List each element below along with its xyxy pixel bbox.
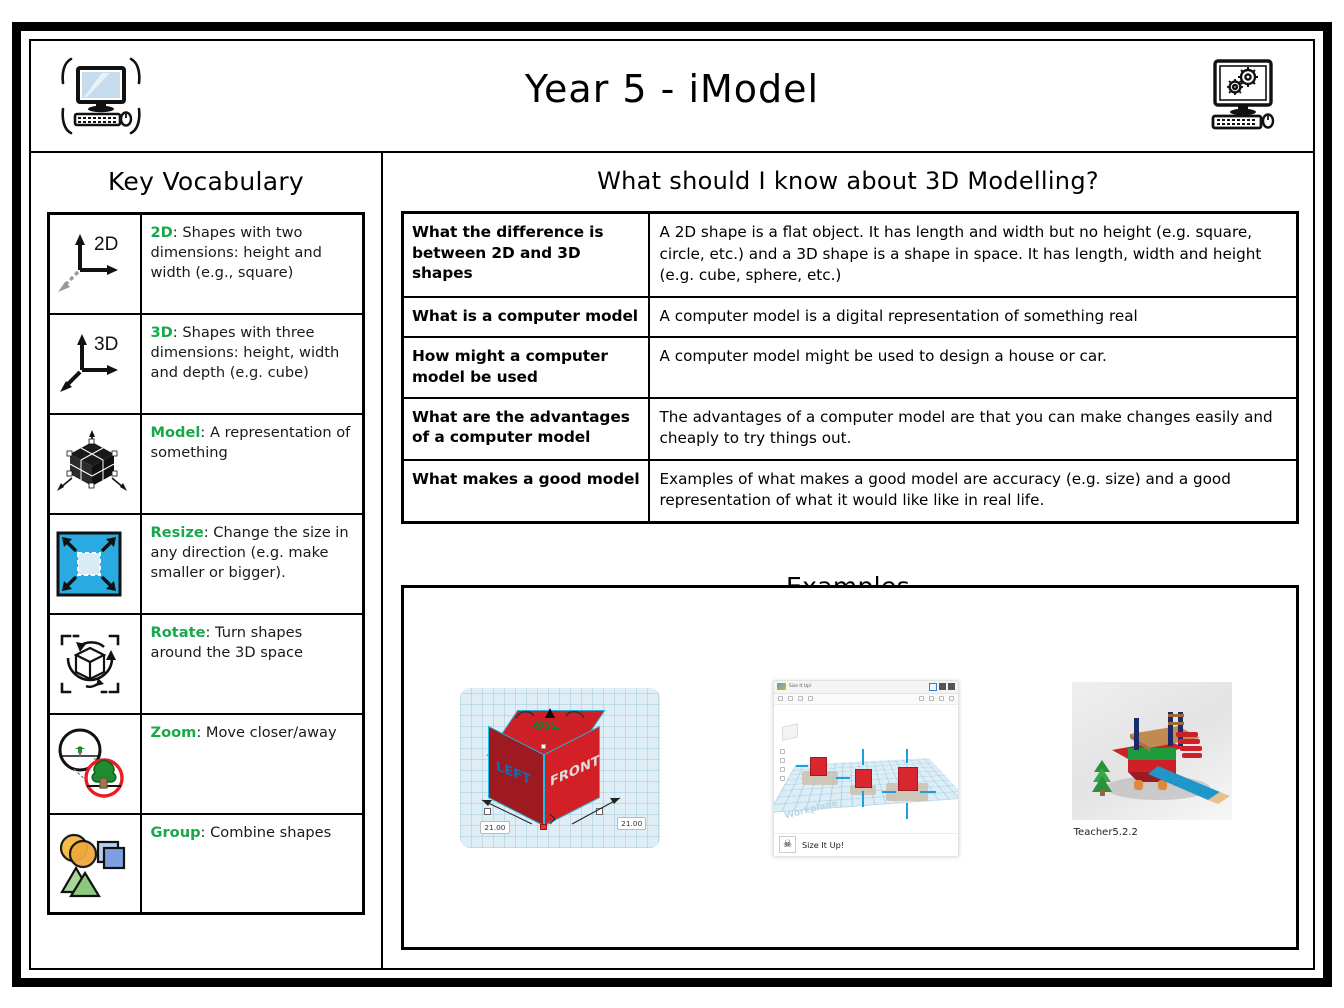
page-body: Key Vocabulary 2D — [31, 153, 1313, 968]
vocab-definition: 2D: Shapes with two dimensions: height a… — [141, 214, 364, 314]
vocab-definition-text: : Combine shapes — [201, 824, 332, 841]
left-toolbar — [780, 749, 785, 781]
vocab-definition-text: : Shapes with three dimensions: height, … — [151, 324, 340, 381]
toolbar-icon — [780, 776, 785, 781]
axes-2d-icon: 2D — [49, 214, 141, 314]
toolbar-icon — [798, 696, 803, 701]
rotate-cube-icon — [49, 614, 141, 714]
menu-icon — [948, 683, 955, 690]
cube-handle — [541, 744, 546, 749]
editor-stage: Workplane — [774, 705, 958, 833]
browser-toolbar — [774, 694, 958, 705]
vocab-definition: Group: Combine shapes — [141, 814, 364, 914]
page-inner-frame: Year 5 - iModel — [29, 39, 1315, 970]
knowledge-question: What are the advantages of a computer mo… — [403, 398, 649, 460]
window-title: Size It Up! — [789, 684, 812, 689]
table-row: Rotate: Turn shapes around the 3D space — [49, 614, 364, 714]
key-vocabulary-heading: Key Vocabulary — [31, 153, 381, 212]
toolbar-icon — [939, 696, 944, 701]
knowledge-question: What makes a good model — [403, 460, 649, 523]
table-row: What is a computer model A computer mode… — [403, 297, 1298, 338]
knowledge-column: What should I know about 3D Modelling? W… — [383, 153, 1313, 968]
toolbar-icon — [929, 696, 934, 701]
vocab-definition: Rotate: Turn shapes around the 3D space — [141, 614, 364, 714]
table-row: How might a computer model be used A com… — [403, 337, 1298, 397]
table-row: Zoom: Move closer/away — [49, 714, 364, 814]
size-it-up-example: Size It Up! — [773, 680, 959, 856]
table-row: What the difference is between 2D and 3D… — [403, 213, 1298, 297]
knowledge-heading: What should I know about 3D Modelling? — [383, 153, 1313, 211]
resize-arrow — [862, 749, 864, 765]
table-row: 3D 3D: Shapes with three dimensions: hei… — [49, 314, 364, 414]
tools-icon — [939, 683, 946, 690]
table-row: 2D 2D: Shapes with two dimensions: heigh… — [49, 214, 364, 314]
toolbar-icon — [788, 696, 793, 701]
knowledge-answer: Examples of what makes a good model are … — [649, 460, 1298, 523]
knowledge-table: What the difference is between 2D and 3D… — [401, 211, 1299, 524]
vocab-term: Model — [151, 424, 201, 441]
page-header: Year 5 - iModel — [31, 41, 1313, 153]
example-caption: Teacher5.2.2 — [1074, 827, 1240, 838]
vocab-term: Group — [151, 824, 201, 841]
vocab-definition-text: : Move closer/away — [196, 724, 336, 741]
knowledge-question: What is a computer model — [403, 297, 649, 338]
3d-model-cube-icon — [49, 414, 141, 514]
browser-title-bar: Size It Up! — [774, 681, 958, 694]
toolbar-icon — [919, 696, 924, 701]
dimension-label-right: 21.00 — [617, 817, 646, 830]
toolbar-icon — [778, 696, 783, 701]
knowledge-answer: A computer model might be used to design… — [649, 337, 1298, 397]
resize-arrow — [882, 791, 896, 793]
table-row: What are the advantages of a computer mo… — [403, 398, 1298, 460]
playground-model-example: Teacher5.2.2 — [1072, 682, 1240, 854]
vocab-definition: Zoom: Move closer/away — [141, 714, 364, 814]
knowledge-answer: The advantages of a computer model are t… — [649, 398, 1298, 460]
svg-text:2D: 2D — [94, 234, 118, 255]
toolbar-icon — [780, 758, 785, 763]
resize-arrow — [796, 765, 808, 767]
axes-3d-icon: 3D — [49, 314, 141, 414]
svg-text:3D: 3D — [94, 334, 118, 355]
tinkercad-cube-example: TOP LEFT FRONT — [460, 688, 660, 848]
knowledge-answer: A computer model is a digital representa… — [649, 297, 1298, 338]
resize-arrow — [906, 803, 908, 819]
toolbar-icon — [949, 696, 954, 701]
resize-arrow — [862, 791, 864, 807]
table-row: Model: A representation of something — [49, 414, 364, 514]
vocabulary-table: 2D 2D: Shapes with two dimensions: heigh… — [47, 212, 365, 915]
example-caption: Size It Up! — [802, 840, 844, 850]
knowledge-answer: A 2D shape is a flat object. It has leng… — [649, 213, 1298, 297]
magnify-tree-icon — [49, 714, 141, 814]
resize-arrows-icon — [49, 514, 141, 614]
playground-model-drawing — [1072, 682, 1232, 820]
maximize-icon — [929, 683, 937, 691]
app-logo-icon — [777, 683, 786, 690]
vocab-definition: Model: A representation of something — [141, 414, 364, 514]
examples-box: TOP LEFT FRONT — [401, 585, 1299, 950]
vocab-definition: Resize: Change the size in any direction… — [141, 514, 364, 614]
vocab-term: Resize — [151, 524, 204, 541]
example-caption-bar: ☠ Size It Up! — [774, 833, 958, 856]
playground-render — [1072, 682, 1232, 820]
page-title: Year 5 - iModel — [31, 67, 1313, 111]
pirate-avatar-icon: ☠ — [779, 836, 796, 853]
rotation-handles-icon — [482, 694, 622, 734]
table-row: What makes a good model Examples of what… — [403, 460, 1298, 523]
toolbar-icon — [808, 696, 813, 701]
vocab-term: Zoom — [151, 724, 197, 741]
red-cube-small — [855, 769, 872, 788]
group-shapes-icon — [49, 814, 141, 914]
resize-arrow — [920, 791, 936, 793]
vocab-term: 3D — [151, 324, 173, 341]
toolbar-icon — [780, 749, 785, 754]
toolbar-icon — [780, 767, 785, 772]
vocab-definition: 3D: Shapes with three dimensions: height… — [141, 314, 364, 414]
computer-settings-gears-icon — [1199, 53, 1287, 139]
knowledge-organiser-page: Year 5 - iModel — [12, 22, 1332, 987]
table-row: Group: Combine shapes — [49, 814, 364, 914]
table-row: Resize: Change the size in any direction… — [49, 514, 364, 614]
shape-palette-preview — [782, 723, 798, 740]
red-cube-small — [898, 767, 918, 791]
dimension-label-left: 21.00 — [480, 821, 509, 834]
resize-arrow — [906, 749, 908, 763]
resize-arrow — [836, 777, 850, 779]
window-buttons — [929, 683, 955, 691]
key-vocabulary-column: Key Vocabulary 2D — [31, 153, 383, 968]
knowledge-question: How might a computer model be used — [403, 337, 649, 397]
vocab-definition-text: : Shapes with two dimensions: height and… — [151, 224, 322, 281]
vocab-term: 2D — [151, 224, 173, 241]
red-cube-small — [810, 757, 827, 776]
vocab-term: Rotate — [151, 624, 206, 641]
knowledge-question: What the difference is between 2D and 3D… — [403, 213, 649, 297]
